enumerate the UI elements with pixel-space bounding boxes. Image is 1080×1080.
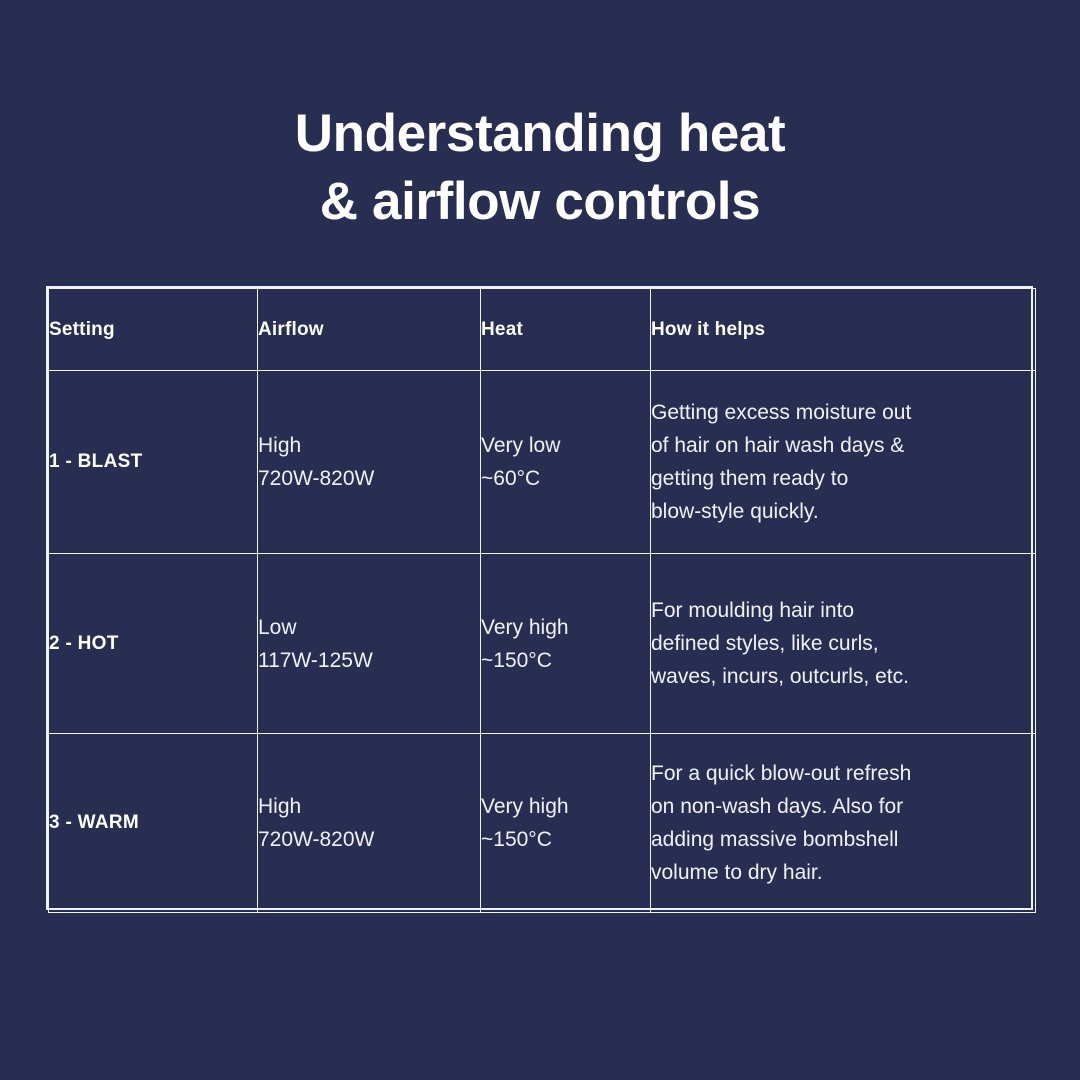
page-title-line-1: Understanding heat xyxy=(0,100,1080,168)
description-line: volume to dry hair. xyxy=(651,856,1035,889)
column-header-airflow: Airflow xyxy=(258,289,481,371)
description-line: of hair on hair wash days & xyxy=(651,429,1035,462)
cell-setting-hot: 2 - HOT xyxy=(49,554,258,734)
airflow-value: High 720W-820W xyxy=(258,429,480,495)
how-it-helps-description: For a quick blow-out refresh on non-wash… xyxy=(651,757,1035,889)
column-header-heat-label: Heat xyxy=(481,319,523,340)
airflow-value: High 720W-820W xyxy=(258,790,480,856)
airflow-power: 117W-125W xyxy=(258,644,480,677)
description-line: For moulding hair into xyxy=(651,594,1035,627)
column-header-airflow-label: Airflow xyxy=(258,319,324,340)
table-header-row: Setting Airflow Heat How it helps xyxy=(49,289,1036,371)
cell-setting-blast: 1 - BLAST xyxy=(49,371,258,554)
heat-temperature: ~150°C xyxy=(481,644,650,677)
page-title-line-2: & airflow controls xyxy=(0,168,1080,236)
how-it-helps-description: Getting excess moisture out of hair on h… xyxy=(651,396,1035,528)
cell-how-it-helps-hot: For moulding hair into defined styles, l… xyxy=(651,554,1036,734)
description-line: on non-wash days. Also for xyxy=(651,790,1035,823)
heat-airflow-table: Setting Airflow Heat How it helps xyxy=(46,286,1033,910)
cell-heat-blast: Very low ~60°C xyxy=(481,371,651,554)
column-header-setting: Setting xyxy=(49,289,258,371)
heat-level: Very high xyxy=(481,790,650,823)
table-row: 1 - BLAST High 720W-820W Very low ~60°C xyxy=(49,371,1036,554)
cell-heat-warm: Very high ~150°C xyxy=(481,734,651,913)
heat-temperature: ~60°C xyxy=(481,462,650,495)
column-header-how-it-helps: How it helps xyxy=(651,289,1036,371)
infographic-page: Understanding heat & airflow controls Se… xyxy=(0,0,1080,1080)
description-line: For a quick blow-out refresh xyxy=(651,757,1035,790)
table-row: 3 - WARM High 720W-820W Very high ~150°C xyxy=(49,734,1036,913)
settings-table: Setting Airflow Heat How it helps xyxy=(48,288,1036,913)
cell-heat-hot: Very high ~150°C xyxy=(481,554,651,734)
airflow-level: High xyxy=(258,429,480,462)
setting-label: 1 - BLAST xyxy=(49,451,142,472)
heat-value: Very high ~150°C xyxy=(481,790,650,856)
page-title: Understanding heat & airflow controls xyxy=(0,100,1080,236)
description-line: waves, incurs, outcurls, etc. xyxy=(651,660,1035,693)
heat-value: Very high ~150°C xyxy=(481,611,650,677)
description-line: defined styles, like curls, xyxy=(651,627,1035,660)
cell-how-it-helps-warm: For a quick blow-out refresh on non-wash… xyxy=(651,734,1036,913)
table-row: 2 - HOT Low 117W-125W Very high ~150°C xyxy=(49,554,1036,734)
column-header-how-it-helps-label: How it helps xyxy=(651,319,765,340)
heat-temperature: ~150°C xyxy=(481,823,650,856)
airflow-value: Low 117W-125W xyxy=(258,611,480,677)
airflow-level: High xyxy=(258,790,480,823)
cell-how-it-helps-blast: Getting excess moisture out of hair on h… xyxy=(651,371,1036,554)
cell-airflow-hot: Low 117W-125W xyxy=(258,554,481,734)
setting-label: 3 - WARM xyxy=(49,812,139,833)
setting-label: 2 - HOT xyxy=(49,633,119,654)
airflow-level: Low xyxy=(258,611,480,644)
airflow-power: 720W-820W xyxy=(258,462,480,495)
description-line: blow-style quickly. xyxy=(651,495,1035,528)
heat-level: Very high xyxy=(481,611,650,644)
column-header-heat: Heat xyxy=(481,289,651,371)
cell-setting-warm: 3 - WARM xyxy=(49,734,258,913)
heat-value: Very low ~60°C xyxy=(481,429,650,495)
heat-level: Very low xyxy=(481,429,650,462)
description-line: getting them ready to xyxy=(651,462,1035,495)
cell-airflow-warm: High 720W-820W xyxy=(258,734,481,913)
description-line: adding massive bombshell xyxy=(651,823,1035,856)
description-line: Getting excess moisture out xyxy=(651,396,1035,429)
column-header-setting-label: Setting xyxy=(49,319,115,340)
airflow-power: 720W-820W xyxy=(258,823,480,856)
how-it-helps-description: For moulding hair into defined styles, l… xyxy=(651,594,1035,693)
cell-airflow-blast: High 720W-820W xyxy=(258,371,481,554)
